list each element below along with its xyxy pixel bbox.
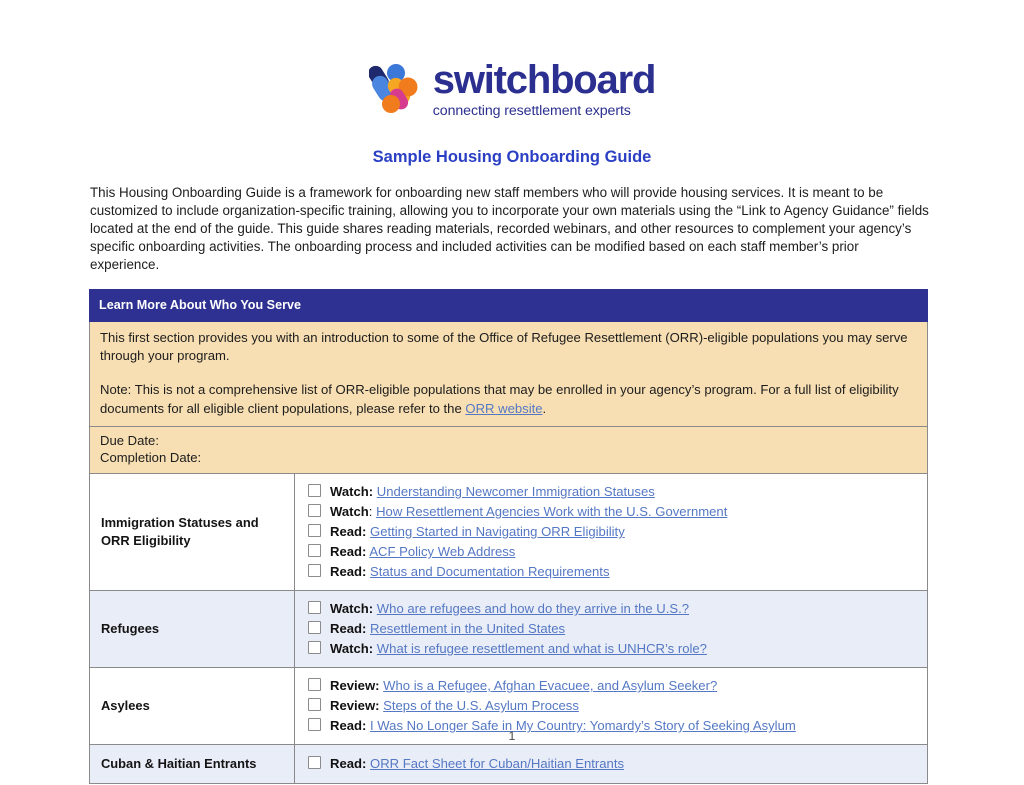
list-item[interactable]: Read: Status and Documentation Requireme… [308,562,917,582]
item-text: Review: Steps of the U.S. Asylum Process [330,696,579,716]
item-verb: Read: [330,524,366,539]
list-item[interactable]: Watch: Understanding Newcomer Immigratio… [308,482,917,502]
checkbox-icon[interactable] [308,504,321,517]
item-verb: Watch: [330,641,373,656]
due-date-label: Due Date: [100,432,917,450]
paragraph-2-text-after: . [543,401,547,416]
checkbox-icon[interactable] [308,601,321,614]
list-item[interactable]: Watch: What is refugee resettlement and … [308,639,917,659]
category-label: Refugees [101,621,159,636]
table-row: Immigration Statuses and ORR Eligibility… [90,474,928,591]
completion-date-label: Completion Date: [100,449,917,467]
list-item[interactable]: Read: Resettlement in the United States [308,619,917,639]
list-item[interactable]: Watch: How Resettlement Agencies Work wi… [308,502,917,522]
section-paragraph-1: This first section provides you with an … [100,329,917,365]
item-verb: Review: [330,678,380,693]
item-text: Read: ACF Policy Web Address [330,542,515,562]
items-cell: Watch: Who are refugees and how do they … [295,591,928,668]
brand-logo: switchboard connecting resettlement expe… [0,60,1024,118]
item-verb: Read: [330,621,366,636]
category-label: Asylees [101,698,150,713]
item-verb: Watch: [330,601,373,616]
resource-link[interactable]: ACF Policy Web Address [369,544,515,559]
items-cell: Read: ORR Fact Sheet for Cuban/Haitian E… [295,745,928,784]
item-separator: : [369,504,373,519]
category-cell: Cuban & Haitian Entrants [90,745,295,784]
category-cell: Refugees [90,591,295,668]
item-text: Watch: Who are refugees and how do they … [330,599,689,619]
section-description-cell: This first section provides you with an … [90,322,928,427]
checkbox-icon[interactable] [308,544,321,557]
list-item[interactable]: Read: ORR Fact Sheet for Cuban/Haitian E… [308,754,917,774]
brand-tagline: connecting resettlement experts [433,104,655,118]
table-description-row: This first section provides you with an … [90,322,928,427]
item-text: Read: Resettlement in the United States [330,619,565,639]
item-verb: Watch [330,504,369,519]
item-text: Read: Getting Started in Navigating ORR … [330,522,625,542]
section-header-cell: Learn More About Who You Serve [90,290,928,322]
section-header-label: Learn More About Who You Serve [99,298,301,312]
table-row: Refugees Watch: Who are refugees and how… [90,591,928,668]
item-verb: Read: [330,544,366,559]
table-dates-row: Due Date: Completion Date: [90,426,928,473]
resource-link[interactable]: Status and Documentation Requirements [370,564,609,579]
list-item[interactable]: Read: ACF Policy Web Address [308,542,917,562]
item-text: Watch: What is refugee resettlement and … [330,639,707,659]
checkbox-icon[interactable] [308,564,321,577]
page-title: Sample Housing Onboarding Guide [0,148,1024,167]
paragraph-spacer [100,365,917,381]
list-item[interactable]: Review: Who is a Refugee, Afghan Evacuee… [308,676,917,696]
checkbox-icon[interactable] [308,698,321,711]
checkbox-icon[interactable] [308,484,321,497]
item-verb: Read: [330,564,366,579]
item-verb: Watch: [330,484,373,499]
resource-link[interactable]: Getting Started in Navigating ORR Eligib… [370,524,625,539]
category-label: Immigration Statuses and ORR Eligibility [101,515,259,548]
switchboard-logo-mark-icon [369,61,421,117]
orr-website-link[interactable]: ORR website [465,401,542,416]
resource-link[interactable]: Who is a Refugee, Afghan Evacuee, and As… [383,678,717,693]
item-text: Watch: Understanding Newcomer Immigratio… [330,482,655,502]
table-header-row: Learn More About Who You Serve [90,290,928,322]
page-number: 1 [0,729,1024,743]
item-verb: Review: [330,698,380,713]
item-text: Review: Who is a Refugee, Afghan Evacuee… [330,676,717,696]
intro-paragraph: This Housing Onboarding Guide is a frame… [90,184,930,274]
checkbox-icon[interactable] [308,524,321,537]
resource-link[interactable]: Steps of the U.S. Asylum Process [383,698,579,713]
item-verb: Read: [330,756,366,771]
resource-link[interactable]: ORR Fact Sheet for Cuban/Haitian Entrant… [370,756,624,771]
logo-text-block: switchboard connecting resettlement expe… [433,60,655,118]
checkbox-icon[interactable] [308,756,321,769]
section-paragraph-2: Note: This is not a comprehensive list o… [100,381,917,417]
item-text: Read: Status and Documentation Requireme… [330,562,610,582]
onboarding-table: Learn More About Who You Serve This firs… [89,289,928,784]
list-item[interactable]: Read: Getting Started in Navigating ORR … [308,522,917,542]
brand-name: switchboard [433,60,655,100]
category-label: Cuban & Haitian Entrants [101,756,256,771]
list-item[interactable]: Watch: Who are refugees and how do they … [308,599,917,619]
table-row: Cuban & Haitian Entrants Read: ORR Fact … [90,745,928,784]
resource-link[interactable]: Who are refugees and how do they arrive … [377,601,689,616]
category-cell: Immigration Statuses and ORR Eligibility [90,474,295,591]
resource-link[interactable]: Resettlement in the United States [370,621,565,636]
resource-link[interactable]: What is refugee resettlement and what is… [377,641,707,656]
list-item[interactable]: Review: Steps of the U.S. Asylum Process [308,696,917,716]
resource-link[interactable]: Understanding Newcomer Immigration Statu… [377,484,655,499]
item-text: Watch: How Resettlement Agencies Work wi… [330,502,727,522]
items-cell: Watch: Understanding Newcomer Immigratio… [295,474,928,591]
checkbox-icon[interactable] [308,621,321,634]
checkbox-icon[interactable] [308,678,321,691]
checkbox-icon[interactable] [308,641,321,654]
document-page: switchboard connecting resettlement expe… [0,0,1024,785]
logo-lockup: switchboard connecting resettlement expe… [369,60,655,118]
item-text: Read: ORR Fact Sheet for Cuban/Haitian E… [330,754,624,774]
resource-link[interactable]: How Resettlement Agencies Work with the … [376,504,727,519]
dates-cell: Due Date: Completion Date: [90,426,928,473]
